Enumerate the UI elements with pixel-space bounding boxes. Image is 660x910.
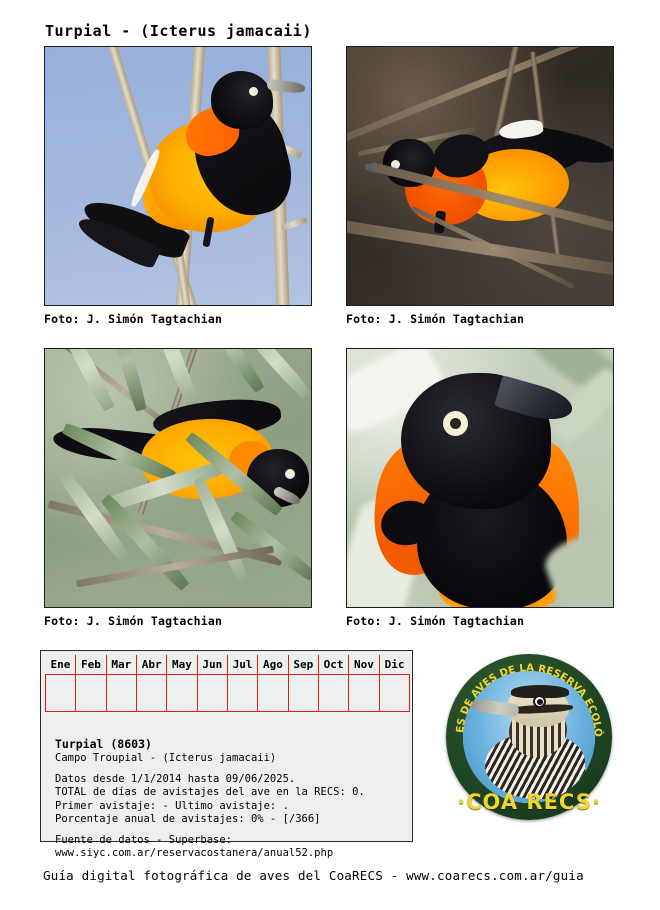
month-value — [349, 675, 379, 712]
month-value — [227, 675, 257, 712]
month-header: Ago — [258, 655, 288, 675]
photo-1[interactable] — [44, 46, 312, 306]
month-value — [318, 675, 348, 712]
logo-bottom-text: ·COA RECS· — [446, 790, 612, 814]
total-days: TOTAL de días de avistajes del ave en la… — [55, 786, 405, 799]
monthly-sightings-table: Ene Feb Mar Abr May Jun Jul Ago Sep Oct … — [45, 655, 410, 712]
month-value — [136, 675, 166, 712]
branch — [346, 220, 614, 279]
species-common-scientific: Campo Troupial - (Icterus jamacaii) — [55, 752, 405, 765]
coarecs-logo[interactable]: CLUB DE OBSERVADORES DE AVES DE LA RESER… — [446, 654, 612, 820]
bird-head — [211, 71, 273, 129]
month-value — [379, 675, 409, 712]
photo-3[interactable] — [44, 348, 312, 608]
svg-text:CLUB DE OBSERVADORES DE AVES D: CLUB DE OBSERVADORES DE AVES DE LA RESER… — [446, 654, 605, 738]
month-value — [46, 675, 76, 712]
month-header: Jul — [227, 655, 257, 675]
sightings-info-panel: Ene Feb Mar Abr May Jun Jul Ago Sep Oct … — [40, 650, 413, 842]
month-header: Ene — [46, 655, 76, 675]
month-header: Jun — [197, 655, 227, 675]
month-value — [258, 675, 288, 712]
photo-caption: Foto: J. Simón Tagtachian — [346, 614, 614, 628]
month-header: Nov — [349, 655, 379, 675]
month-header: Sep — [288, 655, 318, 675]
photo-caption: Foto: J. Simón Tagtachian — [44, 614, 312, 628]
source-label: Fuente de datos - Superbase: — [55, 834, 405, 847]
month-value — [76, 675, 106, 712]
source-url[interactable]: www.siyc.com.ar/reservacostanera/anual52… — [55, 847, 405, 860]
table-row — [46, 675, 410, 712]
month-value — [197, 675, 227, 712]
photo-cell-4: Foto: J. Simón Tagtachian — [346, 348, 614, 628]
month-header: Abr — [136, 655, 166, 675]
photo-4[interactable] — [346, 348, 614, 608]
date-range: Datos desde 1/1/2014 hasta 09/06/2025. — [55, 773, 405, 786]
month-header: Dic — [379, 655, 409, 675]
logo-ring-label: CLUB DE OBSERVADORES DE AVES DE LA RESER… — [446, 654, 605, 738]
bird-pupil — [450, 418, 461, 429]
bird-eye — [285, 469, 295, 479]
photo-cell-3: Foto: J. Simón Tagtachian — [44, 348, 312, 628]
species-details: Turpial (8603) Campo Troupial - (Icterus… — [55, 736, 405, 860]
photo-3-scene — [45, 349, 311, 607]
month-header: Feb — [76, 655, 106, 675]
table-header-row: Ene Feb Mar Abr May Jun Jul Ago Sep Oct … — [46, 655, 410, 675]
page-footer: Guía digital fotográfica de aves del Coa… — [43, 868, 584, 883]
spacer — [55, 826, 405, 834]
guide-page: Turpial - (Icterus jamacaii) — [0, 0, 660, 910]
photo-cell-2: Foto: J. Simón Tagtachian — [346, 46, 614, 326]
photo-caption: Foto: J. Simón Tagtachian — [44, 312, 312, 326]
photo-2[interactable] — [346, 46, 614, 306]
bird-eye — [249, 87, 258, 96]
leaf — [200, 348, 265, 394]
page-title: Turpial - (Icterus jamacaii) — [45, 22, 312, 40]
branch — [346, 46, 614, 144]
species-name: Turpial (8603) — [55, 736, 405, 752]
month-value — [288, 675, 318, 712]
month-header: May — [167, 655, 197, 675]
photo-caption: Foto: J. Simón Tagtachian — [346, 312, 614, 326]
photo-2-scene — [347, 47, 613, 305]
month-header: Mar — [106, 655, 136, 675]
photo-cell-1: Foto: J. Simón Tagtachian — [44, 46, 312, 326]
photo-4-scene — [347, 349, 613, 607]
annual-percent: Porcentaje anual de avistajes: 0% - [/36… — [55, 813, 405, 826]
first-last-sighting: Primer avistaje: - Ultimo avistaje: . — [55, 800, 405, 813]
spacer — [55, 765, 405, 773]
month-value — [106, 675, 136, 712]
photo-1-scene — [45, 47, 311, 305]
month-header: Oct — [318, 655, 348, 675]
month-value — [167, 675, 197, 712]
